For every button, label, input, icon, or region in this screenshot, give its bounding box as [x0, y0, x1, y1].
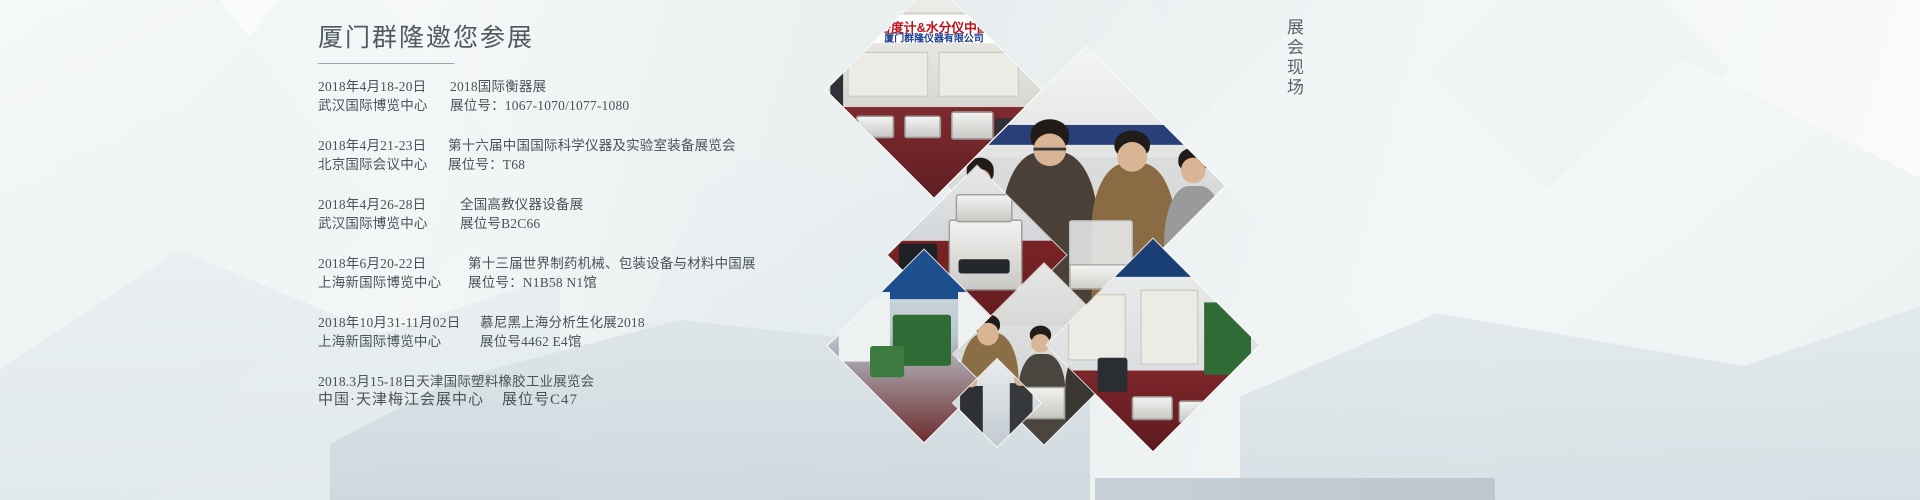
event-name: 2018国际衡器展 — [440, 77, 546, 96]
event-line-bottom: 北京国际会议中心 展位号：T68 — [318, 155, 838, 174]
event-name: 第十六届中国国际科学仪器及实验室装备展览会 — [440, 136, 736, 155]
event-booth: 展位号C47 — [484, 391, 578, 410]
event-line-top: 2018年4月21-23日 第十六届中国国际科学仪器及实验室装备展览会 — [318, 136, 838, 155]
event-venue: 武汉国际博览中心 — [318, 214, 440, 233]
event-line-top: 2018.3月15-18日天津国际塑料橡胶工业展览会 — [318, 372, 838, 391]
event-line-bottom: 武汉国际博览中心 展位号：1067-1070/1077-1080 — [318, 96, 838, 115]
event-venue: 上海新国际博览中心 — [318, 332, 468, 351]
event-booth: 展位号：T68 — [440, 155, 525, 174]
event-date: 2018年6月20-22日 — [318, 254, 456, 273]
event-line-top: 2018年6月20-22日 第十三届世界制药机械、包装设备与材料中国展 — [318, 254, 838, 273]
event-date: 2018.3月15-18日天津国际塑料橡胶工业展览会 — [318, 372, 594, 391]
event-booth: 展位号4462 E4馆 — [468, 332, 582, 351]
page-title: 厦门群隆邀您参展 — [318, 24, 838, 54]
event-booth: 展位号B2C66 — [440, 214, 540, 233]
event-item: 2018年10月31-11月02日 慕尼黑上海分析生化展2018 上海新国际博览… — [318, 313, 838, 351]
event-line-bottom: 中国·天津梅江会展中心 展位号C47 — [318, 391, 838, 410]
event-item: 2018年4月26-28日 全国高教仪器设备展 武汉国际博览中心 展位号B2C6… — [318, 195, 838, 233]
event-date: 2018年4月21-23日 — [318, 136, 440, 155]
event-line-bottom: 上海新国际博览中心 展位号：N1B58 N1馆 — [318, 273, 838, 292]
event-line-top: 2018年4月18-20日 2018国际衡器展 — [318, 77, 838, 96]
event-item: 2018年4月18-20日 2018国际衡器展 武汉国际博览中心 展位号：106… — [318, 77, 838, 115]
bg-facet-7 — [1500, 60, 1920, 500]
event-venue: 武汉国际博览中心 — [318, 96, 440, 115]
event-line-top: 2018年10月31-11月02日 慕尼黑上海分析生化展2018 — [318, 313, 838, 332]
bg-facet-6 — [1180, 0, 1700, 400]
bg-facet-8 — [1430, 0, 1730, 220]
event-booth: 展位号：N1B58 N1馆 — [456, 273, 597, 292]
event-venue: 上海新国际博览中心 — [318, 273, 456, 292]
event-date: 2018年4月26-28日 — [318, 195, 440, 214]
booth-sign-sub: 厦门群隆仪器有限公司 — [839, 31, 1029, 45]
section-label-vertical: 展会现场 — [1278, 18, 1306, 98]
event-date: 2018年10月31-11月02日 — [318, 313, 468, 332]
bg-facet-9 — [1240, 300, 1920, 500]
event-line-bottom: 上海新国际博览中心 展位号4462 E4馆 — [318, 332, 838, 351]
event-item: 2018.3月15-18日天津国际塑料橡胶工业展览会 中国·天津梅江会展中心 展… — [318, 372, 838, 410]
event-name: 慕尼黑上海分析生化展2018 — [468, 313, 645, 332]
event-name: 第十三届世界制药机械、包装设备与材料中国展 — [456, 254, 756, 273]
event-venue: 北京国际会议中心 — [318, 155, 440, 174]
booth-sign: 密度计&水分仪中国 厦门群隆仪器有限公司 — [839, 12, 1029, 43]
event-line-top: 2018年4月26-28日 全国高教仪器设备展 — [318, 195, 838, 214]
event-name: 全国高教仪器设备展 — [440, 195, 583, 214]
exhibition-banner: 厦门群隆邀您参展 2018年4月18-20日 2018国际衡器展 武汉国际博览中… — [0, 0, 1920, 500]
title-underline — [318, 63, 454, 64]
photo-collage: 密度计&水分仪中国 厦门群隆仪器有限公司 — [838, 0, 1238, 500]
event-date: 2018年4月18-20日 — [318, 77, 440, 96]
event-list-panel: 厦门群隆邀您参展 2018年4月18-20日 2018国际衡器展 武汉国际博览中… — [318, 24, 838, 410]
event-item: 2018年6月20-22日 第十三届世界制药机械、包装设备与材料中国展 上海新国… — [318, 254, 838, 292]
event-line-bottom: 武汉国际博览中心 展位号B2C66 — [318, 214, 838, 233]
event-booth: 展位号：1067-1070/1077-1080 — [440, 96, 629, 115]
event-item: 2018年4月21-23日 第十六届中国国际科学仪器及实验室装备展览会 北京国际… — [318, 136, 838, 174]
event-venue: 中国·天津梅江会展中心 — [318, 391, 484, 410]
